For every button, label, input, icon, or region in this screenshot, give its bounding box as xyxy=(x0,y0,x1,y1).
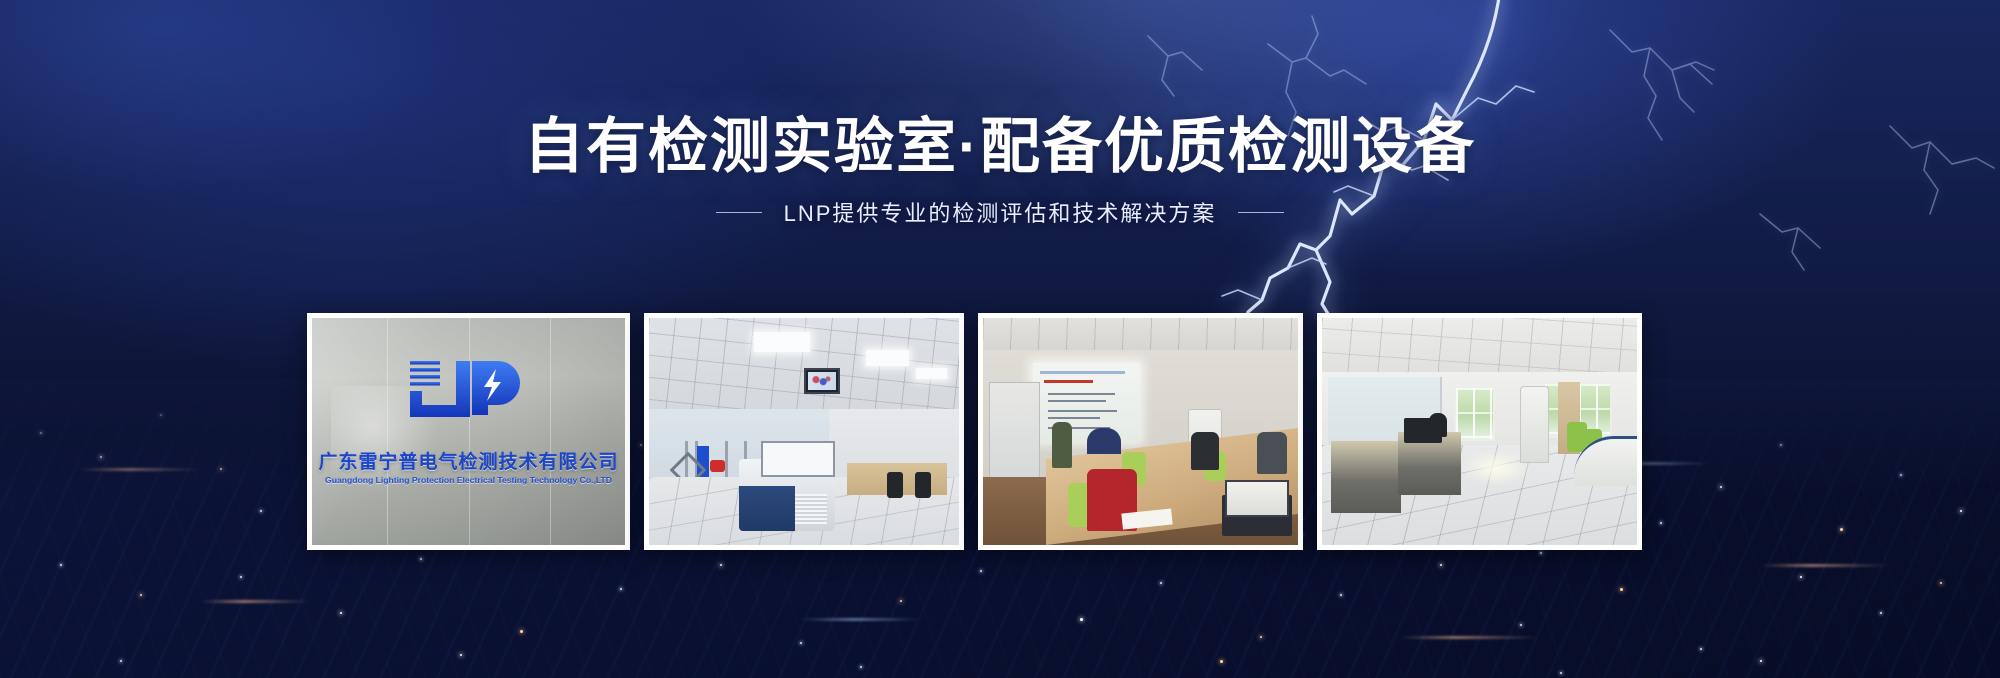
rule-left-icon xyxy=(716,212,762,213)
photo-card-company-logo-wall[interactable]: 广东雷宁普电气检测技术有限公司 Guangdong Lighting Prote… xyxy=(307,313,630,550)
photo-open-plan-office xyxy=(1322,318,1637,545)
facility-photo-strip: 广东雷宁普电气检测技术有限公司 Guangdong Lighting Prote… xyxy=(307,313,1642,550)
page-subtitle: LNP提供专业的检测评估和技术解决方案 xyxy=(784,196,1217,228)
company-name-en: Guangdong Lighting Protection Electrical… xyxy=(325,475,612,485)
subtitle-row: LNP提供专业的检测评估和技术解决方案 xyxy=(0,196,2000,228)
rule-right-icon xyxy=(1238,212,1284,213)
photo-card-open-plan-office[interactable] xyxy=(1317,313,1642,550)
company-name-cn: 广东雷宁普电气检测技术有限公司 xyxy=(318,447,618,474)
photo-card-high-voltage-laboratory[interactable] xyxy=(644,313,964,550)
photo-high-voltage-laboratory xyxy=(649,318,959,545)
photo-card-training-meeting-room[interactable] xyxy=(978,313,1303,550)
photo-training-meeting-room xyxy=(983,318,1298,545)
hero-banner: 自有检测实验室·配备优质检测设备 LNP提供专业的检测评估和技术解决方案 xyxy=(0,0,2000,678)
page-title: 自有检测实验室·配备优质检测设备 xyxy=(0,113,2000,180)
photo-company-logo-wall: 广东雷宁普电气检测技术有限公司 Guangdong Lighting Prote… xyxy=(312,318,625,545)
lnp-logo-icon xyxy=(404,355,534,417)
banner-copy: 自有检测实验室·配备优质检测设备 LNP提供专业的检测评估和技术解决方案 xyxy=(0,0,2000,228)
